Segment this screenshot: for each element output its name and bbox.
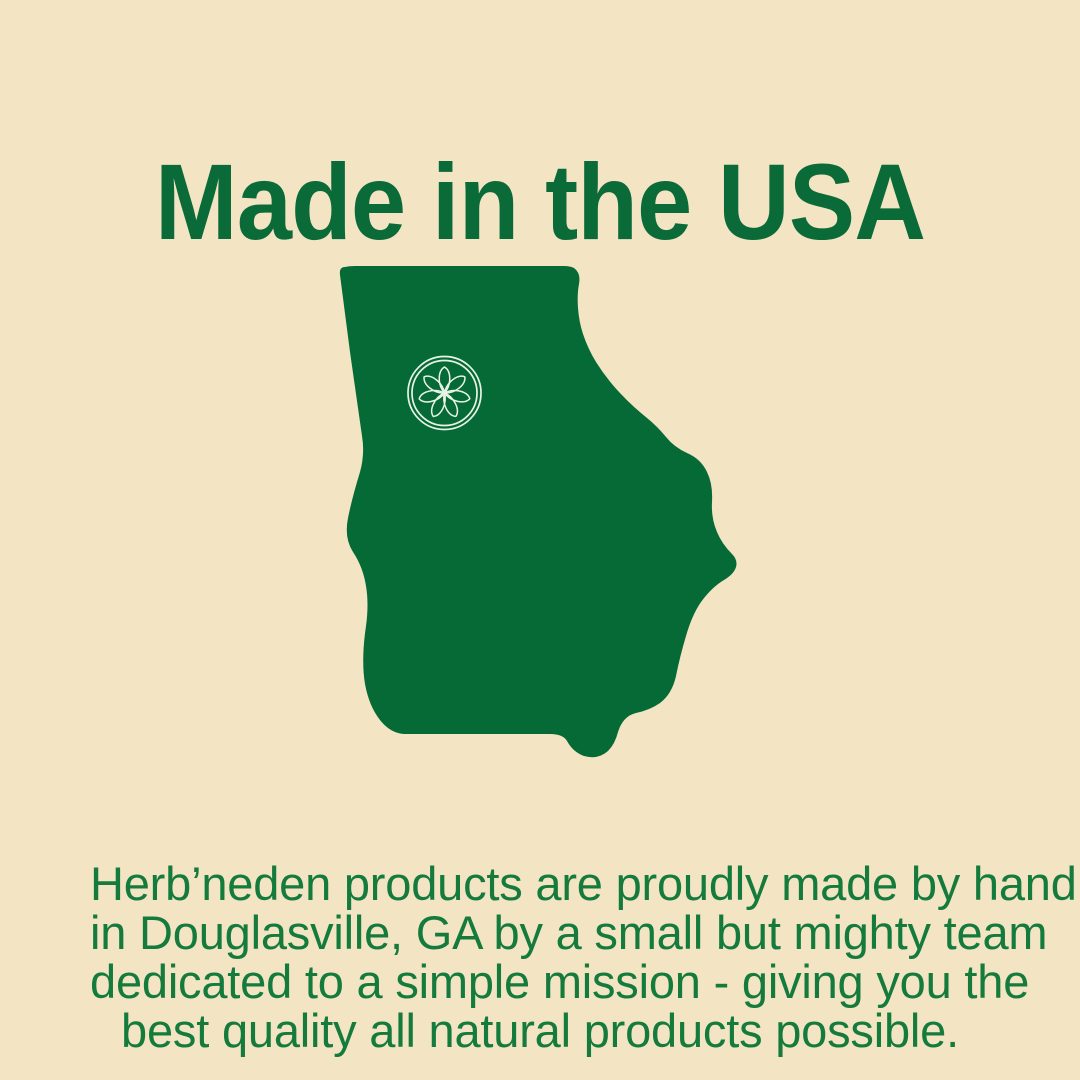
georgia-map-illustration — [320, 240, 820, 770]
about-paragraph-line: dedicated to a simple mission - giving y… — [90, 957, 990, 1006]
about-paragraph-line: Herb’neden products are proudly made by … — [90, 859, 990, 908]
georgia-map-svg — [320, 240, 820, 770]
about-paragraph-line: best quality all natural products possib… — [90, 1006, 990, 1055]
about-paragraph-line: in Douglasville, GA by a small but might… — [90, 908, 990, 957]
made-in-usa-poster: Made in the USA — [0, 0, 1080, 1080]
about-paragraph: Herb’neden products are proudly made by … — [90, 859, 990, 1055]
georgia-state-shape — [340, 266, 737, 757]
